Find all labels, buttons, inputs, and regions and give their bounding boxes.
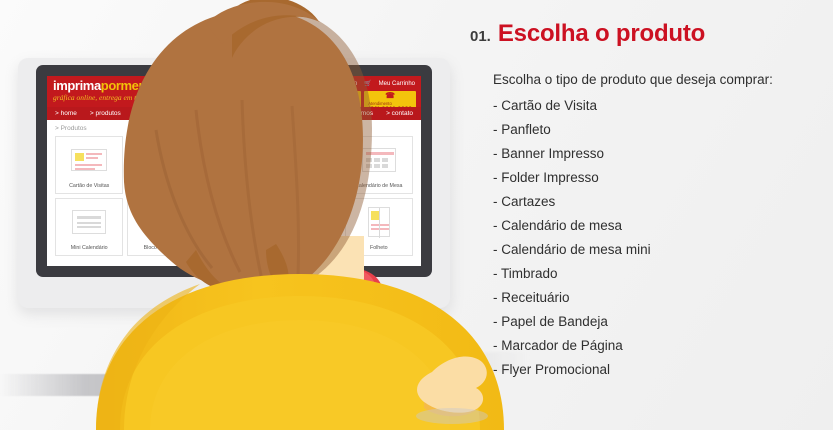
product-card-label: Banner — [225, 183, 242, 189]
product-card-label: Cartaz — [226, 245, 242, 251]
product-card[interactable]: Folder — [272, 136, 340, 194]
site-header: imprimapormenos gráfica online, entrega … — [47, 76, 421, 120]
logo-wordmark: imprimapormenos — [53, 79, 263, 93]
page-title: Escolha o produto — [498, 20, 705, 48]
product-card[interactable]: Calendário de Mesa — [345, 136, 413, 194]
nav-group-left: > home > produtos > compre — [55, 110, 161, 117]
step-heading: 01. Escolha o produto — [470, 20, 820, 48]
product-card[interactable]: Banner — [200, 136, 268, 194]
list-item: - Banner Impresso — [493, 142, 820, 166]
product-thumb — [128, 199, 194, 245]
product-card[interactable]: Mini Calendário — [55, 198, 123, 256]
product-card[interactable]: Panfleto — [127, 136, 195, 194]
desk-shadow — [0, 374, 470, 396]
nav-group-right: > quem somos > contato — [330, 110, 413, 117]
product-card[interactable]: Cartão de Visitas — [55, 136, 123, 194]
list-item: - Calendário de mesa mini — [493, 238, 820, 262]
login-link[interactable]: Login — [342, 81, 357, 87]
site-navbar: > home > produtos > compre > quem somos … — [47, 107, 421, 120]
product-card-label: Panfleto — [152, 183, 171, 189]
list-item: - Calendário de mesa — [493, 214, 820, 238]
product-thumb — [273, 137, 339, 183]
monitor-screen: imprimapormenos gráfica online, entrega … — [47, 76, 421, 266]
nav-item-compre[interactable]: > compre — [134, 110, 161, 117]
page-root: imprimapormenos gráfica online, entrega … — [0, 0, 833, 430]
breadcrumb: > Produtos — [47, 120, 421, 136]
step-intro: Escolha o tipo de produto que deseja com… — [493, 72, 820, 87]
product-card[interactable]: Folheto — [345, 198, 413, 256]
poster-a3-icon — [295, 207, 317, 237]
product-thumb — [201, 137, 267, 183]
site-logo[interactable]: imprimapormenos gráfica online, entrega … — [47, 76, 263, 107]
product-card-label: Folder — [299, 183, 314, 189]
nav-item-quem-somos[interactable]: > quem somos — [330, 110, 373, 117]
list-item: - Folder Impresso — [493, 166, 820, 190]
flyer-icon — [151, 145, 173, 175]
product-card[interactable]: Poster A3 — [272, 198, 340, 256]
product-card-label: Folheto — [370, 245, 388, 251]
product-thumb — [56, 137, 122, 183]
folder-icon — [295, 145, 317, 175]
product-thumb — [56, 199, 122, 245]
list-item: - Cartão de Visita — [493, 94, 820, 118]
list-item: - Panfleto — [493, 118, 820, 142]
product-card-label: Poster A3 — [295, 245, 318, 251]
logo-part1: imprima — [53, 78, 101, 93]
list-item: - Timbrado — [493, 262, 820, 286]
logo-part2: pormenos — [101, 78, 161, 93]
product-thumb — [273, 199, 339, 245]
product-card-label: Mini Calendário — [71, 245, 108, 251]
product-thumb — [201, 199, 267, 245]
desk-calendar-icon — [362, 148, 396, 172]
notepad-icon — [151, 207, 173, 237]
nav-item-contato[interactable]: > contato — [386, 110, 413, 117]
site-topbar: Login 🛒 Meu Carrinho Faça sua COTAÇÃO ☎ … — [261, 76, 421, 107]
product-type-list: - Cartão de Visita - Panfleto - Banner I… — [493, 94, 820, 382]
shopping-cart-icon: 🛒 — [364, 80, 371, 87]
business-card-icon — [71, 149, 107, 171]
product-card-label: Cartão de Visitas — [69, 183, 109, 189]
mini-calendar-icon — [72, 210, 106, 234]
list-item: - Papel de Bandeja — [493, 310, 820, 334]
product-card-label: Calendário de Mesa — [355, 183, 402, 189]
monitor: imprimapormenos gráfica online, entrega … — [18, 58, 450, 308]
product-card-label: Bloco de Notas — [144, 245, 180, 251]
product-grid: Cartão de Visitas Panfleto — [47, 136, 421, 256]
list-item: - Receituário — [493, 286, 820, 310]
step-content: 01. Escolha o produto Escolha o tipo de … — [470, 20, 820, 382]
nav-item-home[interactable]: > home — [55, 110, 77, 117]
product-card[interactable]: Bloco de Notas — [127, 198, 195, 256]
list-item: - Marcador de Página — [493, 334, 820, 358]
list-item: - Flyer Promocional — [493, 358, 820, 382]
poster-icon — [223, 207, 245, 237]
product-thumb — [128, 137, 194, 183]
nav-item-produtos[interactable]: > produtos — [90, 110, 121, 117]
step-number: 01. — [470, 28, 491, 45]
topbar-row-account: Login 🛒 Meu Carrinho — [261, 76, 421, 90]
product-thumb — [346, 137, 412, 183]
product-thumb — [346, 199, 412, 245]
product-card[interactable]: Cartaz — [200, 198, 268, 256]
leaflet-icon — [368, 207, 390, 237]
phone-icon: ☎ — [385, 92, 395, 99]
cart-link[interactable]: Meu Carrinho — [379, 81, 415, 87]
banner-icon — [223, 145, 245, 175]
logo-tagline: gráfica online, entrega em todo Brasil — [53, 93, 263, 103]
list-item: - Cartazes — [493, 190, 820, 214]
